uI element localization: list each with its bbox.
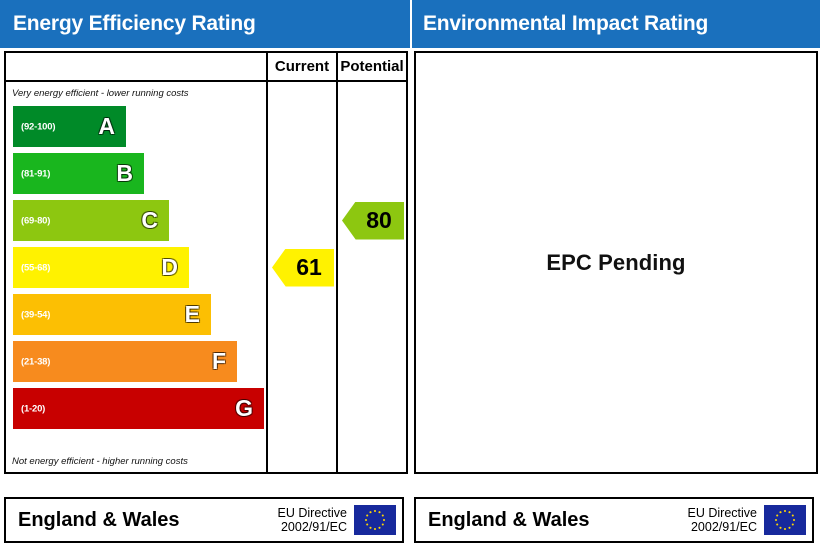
rating-band-range-c: (69-80) bbox=[21, 215, 50, 226]
rating-band-e: (39-54)E bbox=[13, 294, 211, 335]
rating-band-range-b: (81-91) bbox=[21, 168, 50, 179]
panel-divider bbox=[410, 0, 412, 547]
rating-band-d: (55-68)D bbox=[13, 247, 189, 288]
rating-scale-area: Very energy efficient - lower running co… bbox=[6, 82, 266, 472]
energy-efficiency-panel: Energy Efficiency Rating Current Potenti… bbox=[0, 0, 410, 547]
eu-flag-icon bbox=[354, 505, 396, 535]
energy-rating-chart: Current Potential Very energy efficient … bbox=[4, 51, 408, 474]
environmental-impact-header: Environmental Impact Rating bbox=[410, 0, 820, 48]
footer-region-label-left: England & Wales bbox=[18, 509, 180, 532]
rating-band-b: (81-91)B bbox=[13, 153, 144, 194]
rating-band-letter-b: B bbox=[116, 162, 133, 185]
potential-rating-value: 80 bbox=[354, 209, 392, 232]
current-rating-marker: 61 bbox=[272, 249, 334, 287]
column-header-row: Current Potential bbox=[6, 53, 406, 82]
rating-band-g: (1-20)G bbox=[13, 388, 264, 429]
rating-band-list: (92-100)A(81-91)B(69-80)C(55-68)D(39-54)… bbox=[6, 106, 266, 435]
rating-band-range-e: (39-54) bbox=[21, 309, 50, 320]
rating-band-range-d: (55-68) bbox=[21, 262, 50, 273]
energy-efficiency-body: Current Potential Very energy efficient … bbox=[0, 48, 410, 494]
rating-band-range-g: (1-20) bbox=[21, 403, 45, 414]
environmental-rating-chart: EPC Pending bbox=[414, 51, 818, 474]
potential-rating-marker: 80 bbox=[342, 202, 404, 240]
column-divider-potential bbox=[336, 53, 338, 472]
eu-flag-icon bbox=[764, 505, 806, 535]
environmental-impact-title: Environmental Impact Rating bbox=[423, 12, 708, 36]
eu-directive-text-right: EU Directive 2002/91/EC bbox=[688, 506, 757, 534]
energy-efficiency-header: Energy Efficiency Rating bbox=[0, 0, 410, 48]
rating-band-f: (21-38)F bbox=[13, 341, 237, 382]
rating-band-a: (92-100)A bbox=[13, 106, 126, 147]
rating-band-range-a: (92-100) bbox=[21, 121, 55, 132]
environmental-impact-footer: England & Wales EU Directive 2002/91/EC bbox=[414, 497, 814, 543]
environmental-impact-panel: Environmental Impact Rating EPC Pending … bbox=[410, 0, 820, 547]
epc-certificate-graphic: Energy Efficiency Rating Current Potenti… bbox=[0, 0, 820, 547]
eu-directive-line2-right: 2002/91/EC bbox=[688, 520, 757, 534]
eu-directive-line2-left: 2002/91/EC bbox=[278, 520, 347, 534]
energy-efficiency-title: Energy Efficiency Rating bbox=[13, 12, 256, 36]
scale-caption-bottom: Not energy efficient - higher running co… bbox=[12, 456, 188, 467]
column-header-potential: Potential bbox=[336, 53, 406, 80]
rating-band-range-f: (21-38) bbox=[21, 356, 50, 367]
column-divider-current bbox=[266, 53, 268, 472]
rating-band-letter-g: G bbox=[235, 397, 253, 420]
rating-band-letter-a: A bbox=[98, 115, 115, 138]
current-rating-value: 61 bbox=[284, 256, 322, 279]
footer-region-label-right: England & Wales bbox=[428, 509, 590, 532]
environmental-impact-body: EPC Pending bbox=[410, 48, 820, 494]
rating-band-letter-f: F bbox=[212, 350, 226, 373]
eu-directive-line1-left: EU Directive bbox=[278, 506, 347, 520]
epc-pending-message: EPC Pending bbox=[546, 250, 685, 276]
footer-directive-group-left: EU Directive 2002/91/EC bbox=[278, 505, 396, 535]
scale-caption-top: Very energy efficient - lower running co… bbox=[12, 88, 189, 99]
column-header-current: Current bbox=[266, 53, 336, 80]
rating-band-letter-d: D bbox=[161, 256, 178, 279]
footer-directive-group-right: EU Directive 2002/91/EC bbox=[688, 505, 806, 535]
rating-band-letter-c: C bbox=[141, 209, 158, 232]
rating-band-letter-e: E bbox=[185, 303, 200, 326]
eu-directive-text-left: EU Directive 2002/91/EC bbox=[278, 506, 347, 534]
eu-directive-line1-right: EU Directive bbox=[688, 506, 757, 520]
rating-band-c: (69-80)C bbox=[13, 200, 169, 241]
energy-efficiency-footer: England & Wales EU Directive 2002/91/EC bbox=[4, 497, 404, 543]
